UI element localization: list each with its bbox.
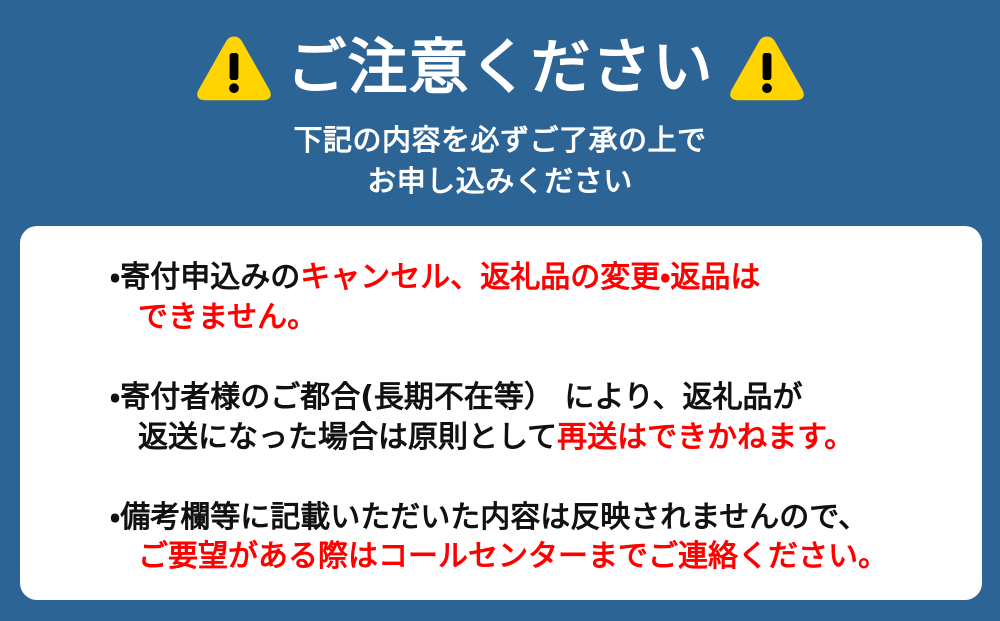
notice-line: ・備考欄等に記載いただいた内容は反映されませんので、	[110, 498, 970, 538]
notice-line: ご要望がある際はコールセンターまでご連絡ください。	[110, 537, 970, 577]
page-title: ご注意ください	[287, 38, 714, 98]
notice-item-cancellation-policy: ・寄付申込みのキャンセル、返礼品の変更・返品はできません。	[110, 258, 970, 338]
notice-text-red: 再送はできかねます。	[557, 420, 854, 455]
notice-text-black: 返送になった場合は原則として	[138, 420, 557, 455]
notice-text-red: ご要望がある際はコールセンターまでご連絡ください。	[138, 539, 888, 574]
warning-triangle-icon	[728, 33, 806, 103]
banner-header: ご注意ください 下記の内容を必ずご了承の上で お申し込みください	[0, 0, 1000, 215]
banner-subtitle: 下記の内容を必ずご了承の上で お申し込みください	[0, 120, 1000, 202]
notice-item-redelivery-policy: ・寄付者様のご都合(長期不在等） により、返礼品が返送になった場合は原則として再…	[110, 378, 970, 458]
subtitle-line-2: お申し込みください	[0, 161, 1000, 202]
notice-line: ・寄付者様のご都合(長期不在等） により、返礼品が	[110, 378, 970, 418]
notice-card: ・寄付申込みのキャンセル、返礼品の変更・返品はできません。・寄付者様のご都合(長…	[20, 226, 982, 600]
subtitle-line-1: 下記の内容を必ずご了承の上で	[0, 120, 1000, 161]
notice-banner: ご注意ください 下記の内容を必ずご了承の上で お申し込みください ・寄付申込みの…	[0, 0, 1000, 621]
notice-text-black: ・寄付者様のご都合(長期不在等） により、返礼品が	[110, 380, 803, 415]
notice-list: ・寄付申込みのキャンセル、返礼品の変更・返品はできません。・寄付者様のご都合(長…	[110, 250, 970, 577]
notice-line: 返送になった場合は原則として再送はできかねます。	[110, 418, 970, 458]
notice-text-black: ・備考欄等に記載いただいた内容は反映されませんので、	[110, 500, 868, 535]
title-row: ご注意ください	[0, 22, 1000, 114]
notice-text-black: ・寄付申込みの	[110, 260, 300, 295]
notice-item-remarks-field-policy: ・備考欄等に記載いただいた内容は反映されませんので、ご要望がある際はコールセンタ…	[110, 498, 970, 578]
notice-line: ・寄付申込みのキャンセル、返礼品の変更・返品は	[110, 258, 970, 298]
warning-triangle-icon	[195, 33, 273, 103]
notice-line: できません。	[110, 298, 970, 338]
notice-text-red: できません。	[138, 300, 317, 335]
notice-text-red: キャンセル、返礼品の変更・返品は	[300, 260, 760, 295]
